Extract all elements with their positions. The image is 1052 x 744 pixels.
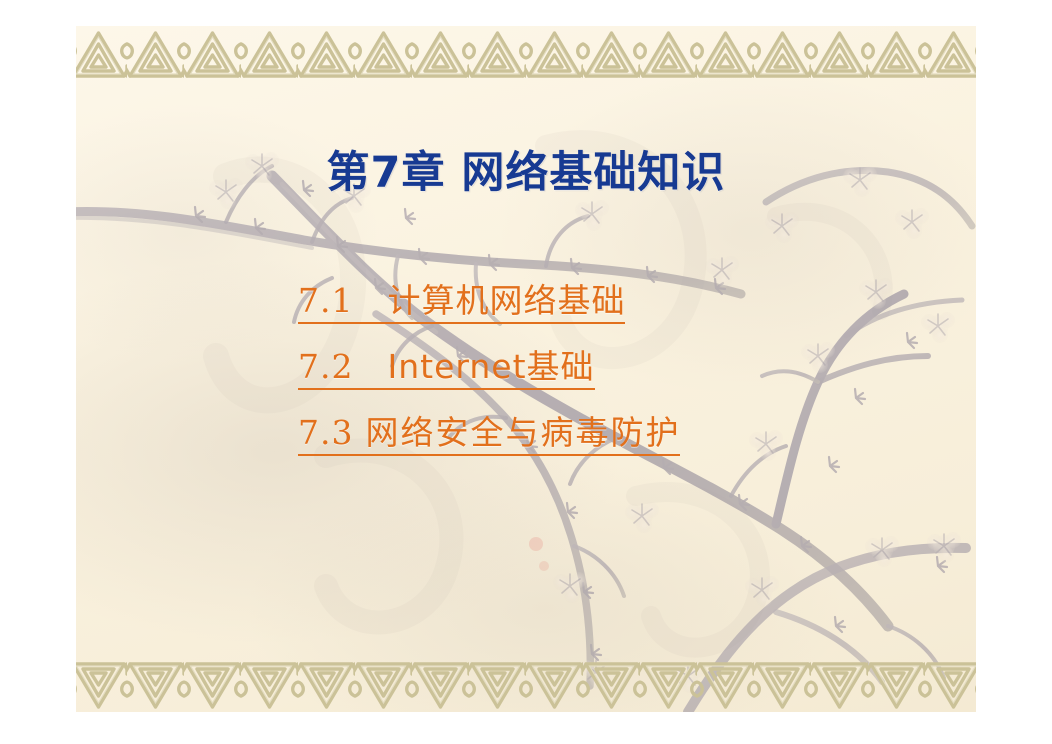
slide-canvas: 第7章 网络基础知识 7.1计算机网络基础 7.2Internet基础 7.3网…: [76, 26, 976, 712]
top-ornament-border: [76, 28, 976, 80]
toc-link-7-2[interactable]: 7.2Internet基础: [298, 350, 918, 390]
bottom-ornament-border: [76, 660, 976, 712]
table-of-contents: 7.1计算机网络基础 7.2Internet基础 7.3网络安全与病毒防护: [298, 284, 918, 482]
toc-link-7-3[interactable]: 7.3网络安全与病毒防护: [298, 416, 918, 456]
toc-link-7-1[interactable]: 7.1计算机网络基础: [298, 284, 918, 324]
toc-label-7-2: Internet基础: [387, 347, 594, 386]
toc-label-7-3: 网络安全与病毒防护: [365, 413, 680, 452]
toc-link-7-1-content: 7.1计算机网络基础: [298, 284, 625, 324]
toc-label-7-1: 计算机网络基础: [387, 281, 625, 320]
toc-number-7-3: 7.3: [298, 413, 353, 452]
toc-number-7-1: 7.1: [298, 281, 353, 320]
toc-link-7-2-content: 7.2Internet基础: [298, 350, 595, 390]
pink-blossom-bud: [529, 537, 543, 551]
title-block: 第7章 网络基础知识: [76, 138, 976, 200]
slide-title: 第7章 网络基础知识: [327, 138, 726, 200]
toc-number-7-2: 7.2: [298, 347, 353, 386]
toc-link-7-3-content: 7.3网络安全与病毒防护: [298, 416, 680, 456]
